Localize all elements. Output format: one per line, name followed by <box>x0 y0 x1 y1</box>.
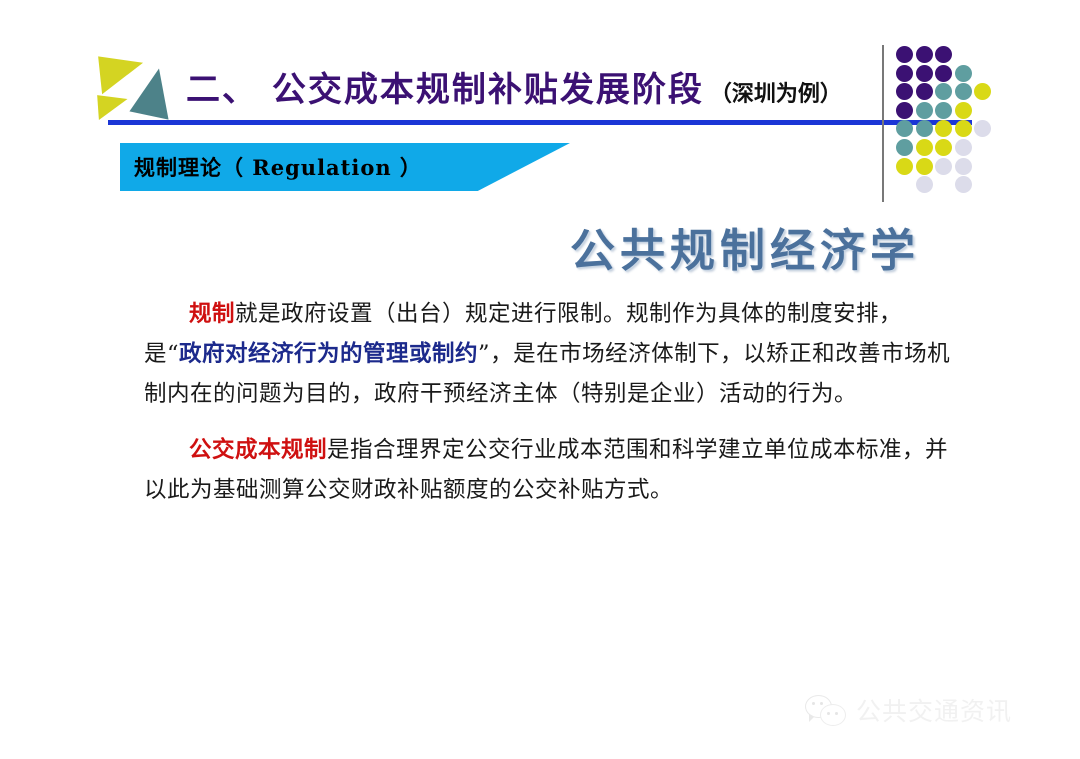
matrix-dot-lavender <box>955 139 972 156</box>
section-banner-label: 规制理论（ Regulation ） <box>134 152 422 182</box>
slide-title-main: 二、 公交成本规制补贴发展阶段 <box>186 62 704 111</box>
slide-title: 二、 公交成本规制补贴发展阶段 （深圳为例） <box>186 62 842 111</box>
highlight-regulation-term: 规制 <box>189 301 235 327</box>
matrix-dot-yellow <box>955 120 972 137</box>
matrix-dot-teal <box>955 65 972 82</box>
wechat-eye-3 <box>827 712 830 715</box>
paragraph-transit-cost-regulation: 公交成本规制是指合理界定公交行业成本范围和科学建立单位成本标准，并以此为基础测算… <box>144 430 954 510</box>
matrix-dot-purple <box>896 46 913 63</box>
wechat-icon <box>805 695 847 725</box>
wechat-bubble-small <box>820 704 846 726</box>
matrix-dot-yellow <box>896 158 913 175</box>
matrix-dot-lavender <box>955 176 972 193</box>
header-vertical-separator <box>882 45 884 202</box>
watermark-label: 公共交通资讯 <box>856 692 1012 728</box>
content-heading: 公共规制经济学 <box>0 214 920 279</box>
matrix-dot-purple <box>916 46 933 63</box>
wechat-eye-4 <box>835 712 838 715</box>
matrix-dot-lavender <box>974 120 991 137</box>
matrix-dot-yellow <box>935 139 952 156</box>
matrix-dot-purple <box>935 46 952 63</box>
matrix-dot-purple <box>896 83 913 100</box>
matrix-dot-lavender <box>916 176 933 193</box>
triangle-teal-icon <box>129 64 178 119</box>
matrix-dot-yellow <box>955 102 972 119</box>
matrix-dot-purple <box>896 102 913 119</box>
quote-close: ” <box>478 341 490 367</box>
presentation-slide: 二、 公交成本规制补贴发展阶段 （深圳为例） 规制理论（ Regulation … <box>0 0 1080 759</box>
section-banner: 规制理论（ Regulation ） <box>120 143 570 191</box>
matrix-dot-teal <box>896 139 913 156</box>
paragraph-regulation-definition: 规制就是政府设置（出台）规定进行限制。规制作为具体的制度安排，是“政府对经济行为… <box>144 294 954 414</box>
quote-open: “ <box>167 341 179 367</box>
matrix-dot-teal <box>935 83 952 100</box>
matrix-dot-purple <box>935 65 952 82</box>
matrix-dot-yellow <box>974 83 991 100</box>
matrix-dot-purple <box>896 65 913 82</box>
matrix-dot-lavender <box>935 158 952 175</box>
dot-matrix-decoration <box>896 46 992 192</box>
highlight-transit-cost-term: 公交成本规制 <box>189 437 327 463</box>
highlight-government-management: 政府对经济行为的管理或制约 <box>179 341 478 367</box>
matrix-dot-yellow <box>935 120 952 137</box>
matrix-dot-purple <box>916 83 933 100</box>
matrix-dot-lavender <box>955 158 972 175</box>
matrix-dot-teal <box>916 120 933 137</box>
triangle-yellow-bottom-icon <box>97 93 129 120</box>
matrix-dot-teal <box>916 102 933 119</box>
matrix-dot-teal <box>955 83 972 100</box>
matrix-dot-yellow <box>916 139 933 156</box>
matrix-dot-purple <box>916 65 933 82</box>
slide-title-subtitle: （深圳为例） <box>710 76 842 108</box>
body-content: 规制就是政府设置（出台）规定进行限制。规制作为具体的制度安排，是“政府对经济行为… <box>144 294 954 510</box>
matrix-dot-yellow <box>916 158 933 175</box>
watermark: 公共交通资讯 <box>805 692 1012 728</box>
title-underline-rule <box>108 120 972 125</box>
matrix-dot-teal <box>935 102 952 119</box>
wechat-eye-1 <box>812 702 815 705</box>
wechat-eye-2 <box>820 702 823 705</box>
matrix-dot-teal <box>896 120 913 137</box>
header-decoration-triangles <box>96 50 188 122</box>
